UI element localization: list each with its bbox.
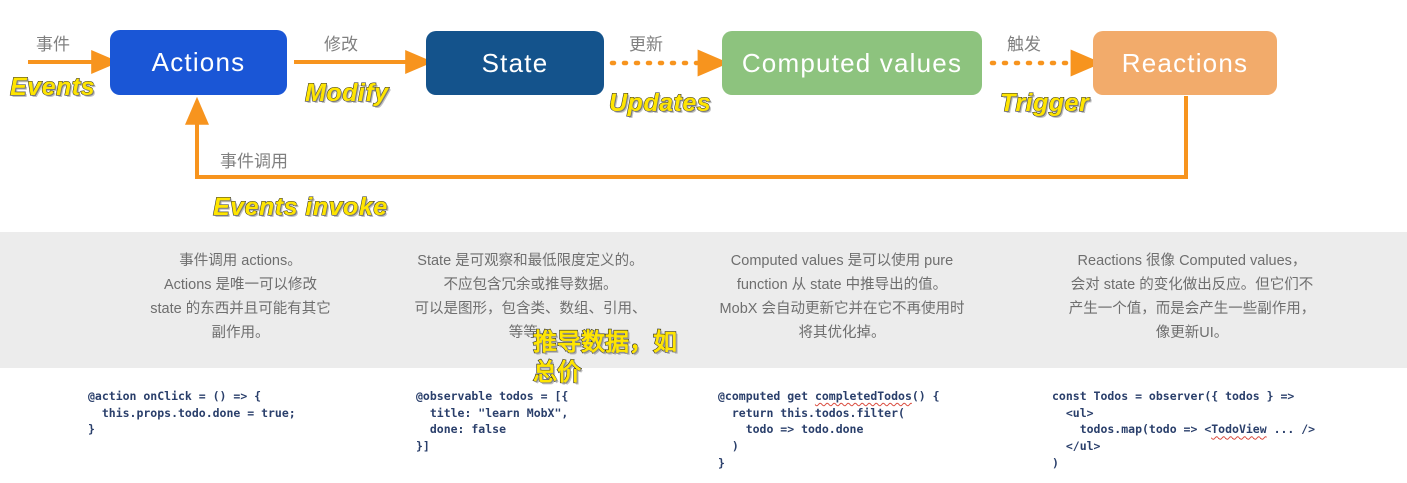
code-block-action: @action onClick = () => { this.props.tod…	[88, 388, 296, 438]
code-squiggle-todoview: TodoView	[1211, 422, 1266, 436]
code-block-observer: const Todos = observer({ todos } => <ul>…	[1052, 388, 1315, 471]
description-strip: 事件调用 actions。 Actions 是唯一可以修改 state 的东西并…	[0, 232, 1407, 368]
caption-events: Events	[10, 73, 95, 102]
node-reactions[interactable]: Reactions	[1093, 31, 1277, 95]
caption-events-invoke: Events invoke	[213, 193, 388, 222]
caption-trigger: Trigger	[1000, 89, 1089, 118]
description-reactions: Reactions 很像 Computed values， 会对 state 的…	[1022, 250, 1362, 346]
arrow-label-updates-cn: 更新	[629, 30, 663, 55]
node-actions[interactable]: Actions	[110, 30, 287, 95]
arrow-label-events-cn: 事件	[36, 30, 70, 55]
code-block-observable: @observable todos = [{ title: "learn Mob…	[416, 388, 568, 455]
diagram-page: Actions State Computed values Reactions …	[0, 0, 1407, 483]
annotation-derived-data: 推导数据，如 总价	[533, 328, 677, 388]
node-state[interactable]: State	[426, 31, 604, 95]
caption-modify: Modify	[305, 79, 389, 108]
node-reactions-label: Reactions	[1122, 48, 1248, 79]
description-computed: Computed values 是可以使用 pure function 从 st…	[682, 250, 1002, 346]
code-block-computed: @computed get completedTodos() { return …	[718, 388, 940, 471]
node-computed-label: Computed values	[742, 48, 962, 79]
description-actions: 事件调用 actions。 Actions 是唯一可以修改 state 的东西并…	[88, 250, 393, 346]
node-state-label: State	[482, 48, 549, 79]
arrow-label-trigger-cn: 触发	[1007, 30, 1041, 55]
flow-diagram: Actions State Computed values Reactions …	[0, 0, 1407, 232]
arrow-label-modify-cn: 修改	[324, 30, 358, 55]
node-actions-label: Actions	[152, 47, 246, 78]
node-computed-values[interactable]: Computed values	[722, 31, 982, 95]
code-line: @computed get	[718, 389, 815, 403]
arrow-label-events-invoke-cn: 事件调用	[220, 147, 288, 172]
code-squiggle-completedtodos: completedTodos	[815, 389, 912, 403]
caption-updates: Updates	[609, 89, 711, 118]
